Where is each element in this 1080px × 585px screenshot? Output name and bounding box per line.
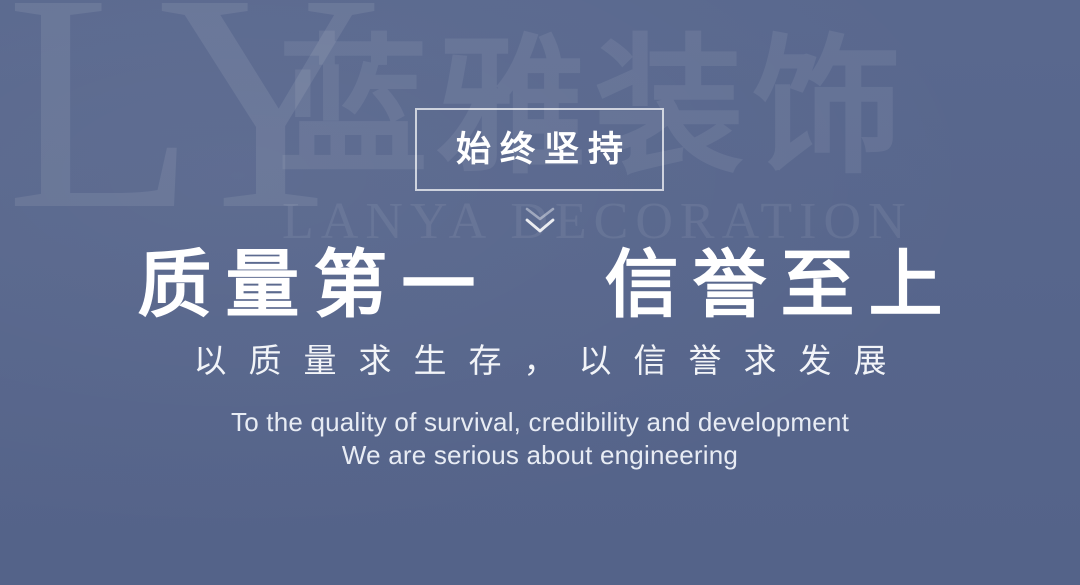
english-slogan-line-two: We are serious about engineering [0, 439, 1080, 472]
promotional-banner: LY 蓝雅装饰 LANYA DECORATION 始终坚持 质量第一 信誉至上 … [0, 0, 1080, 585]
tagline-text: 始终坚持 [447, 132, 632, 167]
english-slogan: To the quality of survival, credibility … [0, 406, 1080, 472]
tagline-box: 始终坚持 [415, 108, 664, 191]
double-chevron-down-icon [523, 206, 557, 236]
headline-part-two: 信誉至上 [605, 243, 957, 326]
banner-content: 始终坚持 质量第一 信誉至上 以质量求生存，以信誉求发展 To the qual… [0, 0, 1080, 585]
subheadline: 以质量求生存，以信誉求发展 [0, 344, 1080, 377]
headline: 质量第一 信誉至上 [0, 248, 1080, 322]
headline-part-one: 质量第一 [137, 243, 489, 326]
english-slogan-line-one: To the quality of survival, credibility … [0, 406, 1080, 439]
